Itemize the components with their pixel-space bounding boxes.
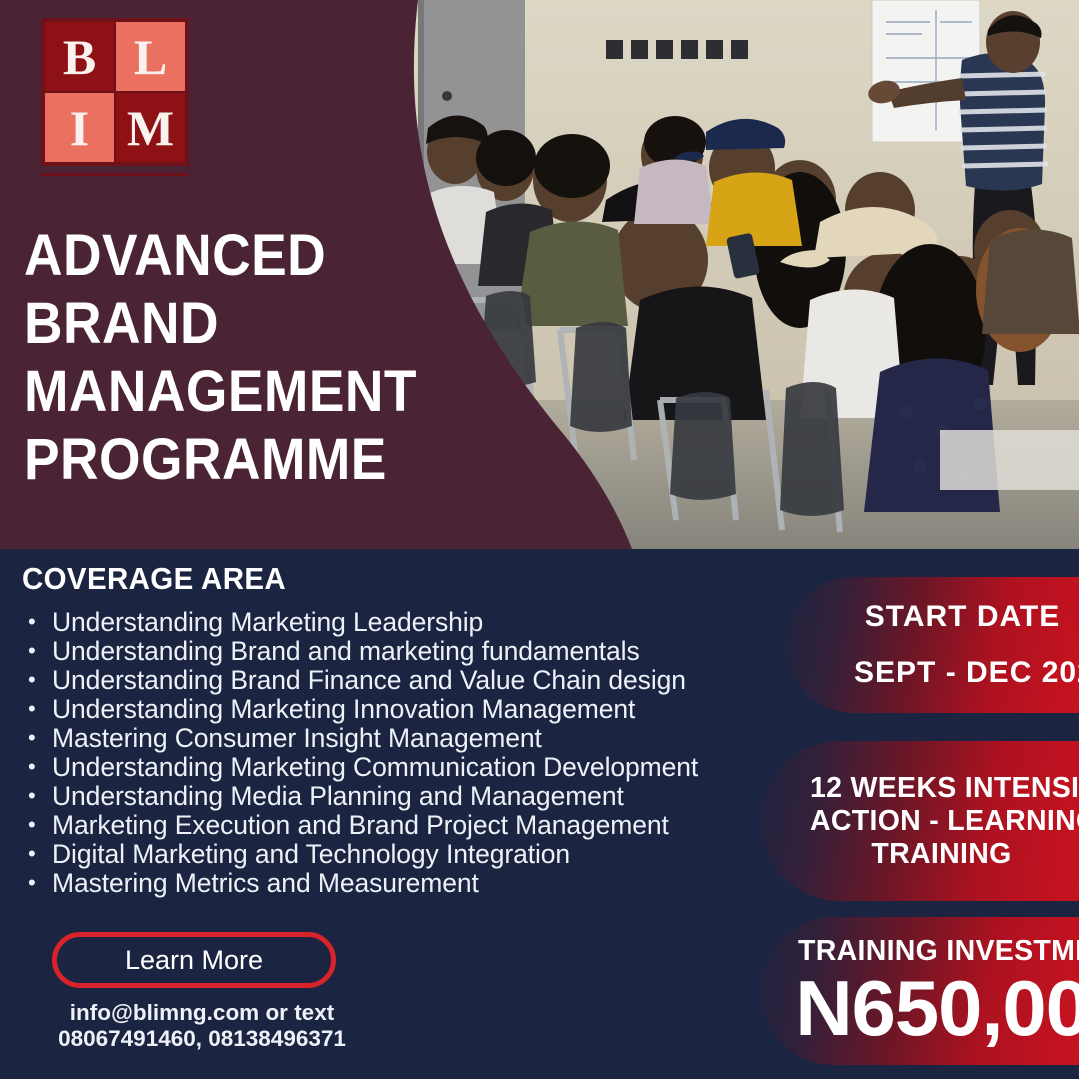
list-item: Understanding Marketing Leadership	[22, 608, 742, 637]
price-label: TRAINING INVESTMENT	[798, 934, 1075, 968]
duration-line-1: 12 WEEKS INTENSIVE	[810, 772, 1073, 805]
title-line-3: MANAGEMENT	[24, 358, 456, 426]
logo-grid: B L I M	[41, 18, 189, 166]
logo-underline	[41, 173, 189, 176]
hero-section: B L I M ADVANCED BRAND MANAGEMENT PROGRA…	[0, 0, 1079, 549]
poster-root: B L I M ADVANCED BRAND MANAGEMENT PROGRA…	[0, 0, 1079, 1079]
title-line-2: BRAND	[24, 290, 456, 358]
logo-letter-m: M	[116, 93, 185, 162]
contact-info: info@blimng.com or text 08067491460, 081…	[52, 1000, 352, 1052]
price-amount: N650,000	[795, 968, 1078, 1048]
list-item: Marketing Execution and Brand Project Ma…	[22, 811, 742, 840]
start-date-label: START DATE	[854, 595, 1071, 639]
page-title: ADVANCED BRAND MANAGEMENT PROGRAMME	[24, 222, 456, 494]
duration-badge: 12 WEEKS INTENSIVE ACTION - LEARNING TRA…	[760, 741, 1079, 901]
duration-line-3: TRAINING	[810, 838, 1073, 871]
list-item: Digital Marketing and Technology Integra…	[22, 840, 742, 869]
contact-email-line[interactable]: info@blimng.com or text	[52, 1000, 352, 1026]
logo-letter-l: L	[116, 22, 185, 91]
logo-letter-i: I	[45, 93, 114, 162]
logo-letter-b: B	[45, 22, 114, 91]
title-line-4: PROGRAMME	[24, 426, 456, 494]
start-date-value: SEPT - DEC 2025	[854, 651, 1071, 695]
list-item: Mastering Metrics and Measurement	[22, 869, 742, 898]
contact-phone-line[interactable]: 08067491460, 08138496371	[52, 1026, 352, 1052]
learn-more-button[interactable]: Learn More	[52, 932, 336, 988]
list-item: Understanding Marketing Communication De…	[22, 753, 742, 782]
list-item: Mastering Consumer Insight Management	[22, 724, 742, 753]
coverage-list: Understanding Marketing Leadership Under…	[22, 608, 742, 898]
duration-line-2: ACTION - LEARNING	[810, 805, 1073, 838]
details-section: COVERAGE AREA Understanding Marketing Le…	[0, 549, 1079, 1079]
coverage-heading: COVERAGE AREA	[22, 561, 286, 597]
title-line-1: ADVANCED	[24, 222, 456, 290]
blim-logo[interactable]: B L I M	[41, 18, 191, 176]
list-item: Understanding Brand Finance and Value Ch…	[22, 666, 742, 695]
list-item: Understanding Marketing Innovation Manag…	[22, 695, 742, 724]
list-item: Understanding Media Planning and Managem…	[22, 782, 742, 811]
list-item: Understanding Brand and marketing fundam…	[22, 637, 742, 666]
start-date-badge: START DATE SEPT - DEC 2025	[786, 577, 1079, 713]
price-badge: TRAINING INVESTMENT N650,000	[760, 917, 1079, 1065]
